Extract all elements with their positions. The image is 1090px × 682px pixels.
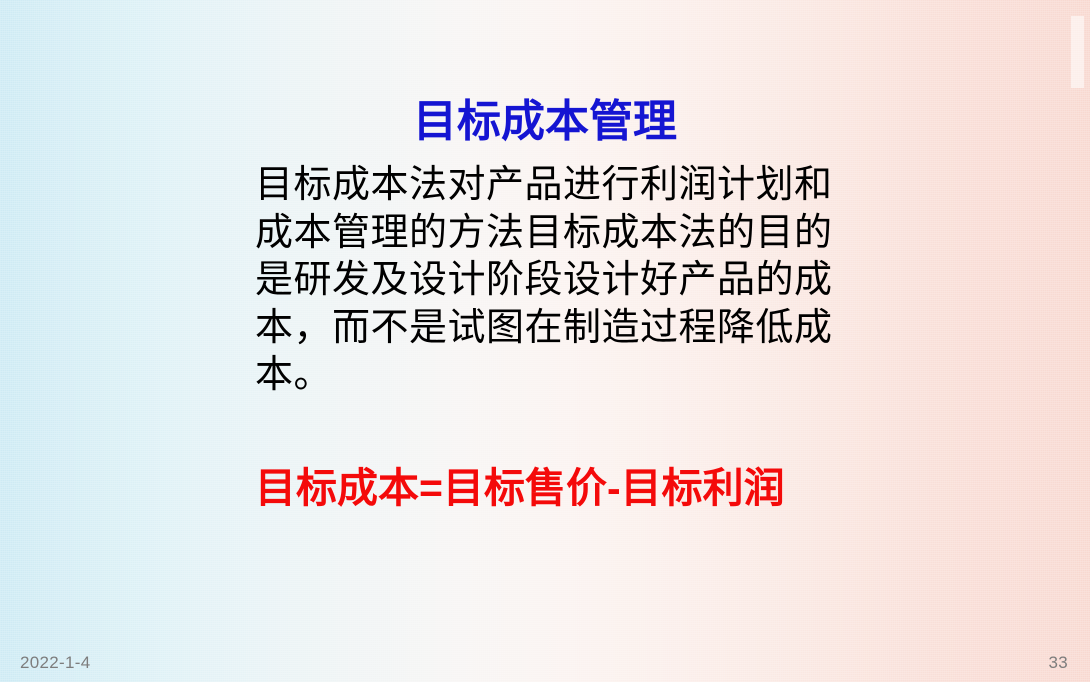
body-line: 本，而不是试图在制造过程降低成 xyxy=(255,305,845,353)
page-title: 目标成本管理 xyxy=(0,93,1090,151)
body-line: 本。 xyxy=(255,352,845,400)
footer-page-number: 33 xyxy=(1048,653,1068,673)
body-line: 是研发及设计阶段设计好产品的成 xyxy=(255,257,845,305)
presentation-slide: 目标成本管理 目标成本法对产品进行利润计划和 成本管理的方法目标成本法的目的 是… xyxy=(0,0,1090,682)
footer-date: 2022-1-4 xyxy=(20,653,90,673)
right-edge-artifact xyxy=(1071,16,1084,88)
body-line: 成本管理的方法目标成本法的目的 xyxy=(255,210,845,258)
body-line: 目标成本法对产品进行利润计划和 xyxy=(255,162,845,210)
body-paragraph: 目标成本法对产品进行利润计划和 成本管理的方法目标成本法的目的 是研发及设计阶段… xyxy=(255,162,845,400)
formula-text: 目标成本=目标售价-目标利润 xyxy=(255,462,845,514)
